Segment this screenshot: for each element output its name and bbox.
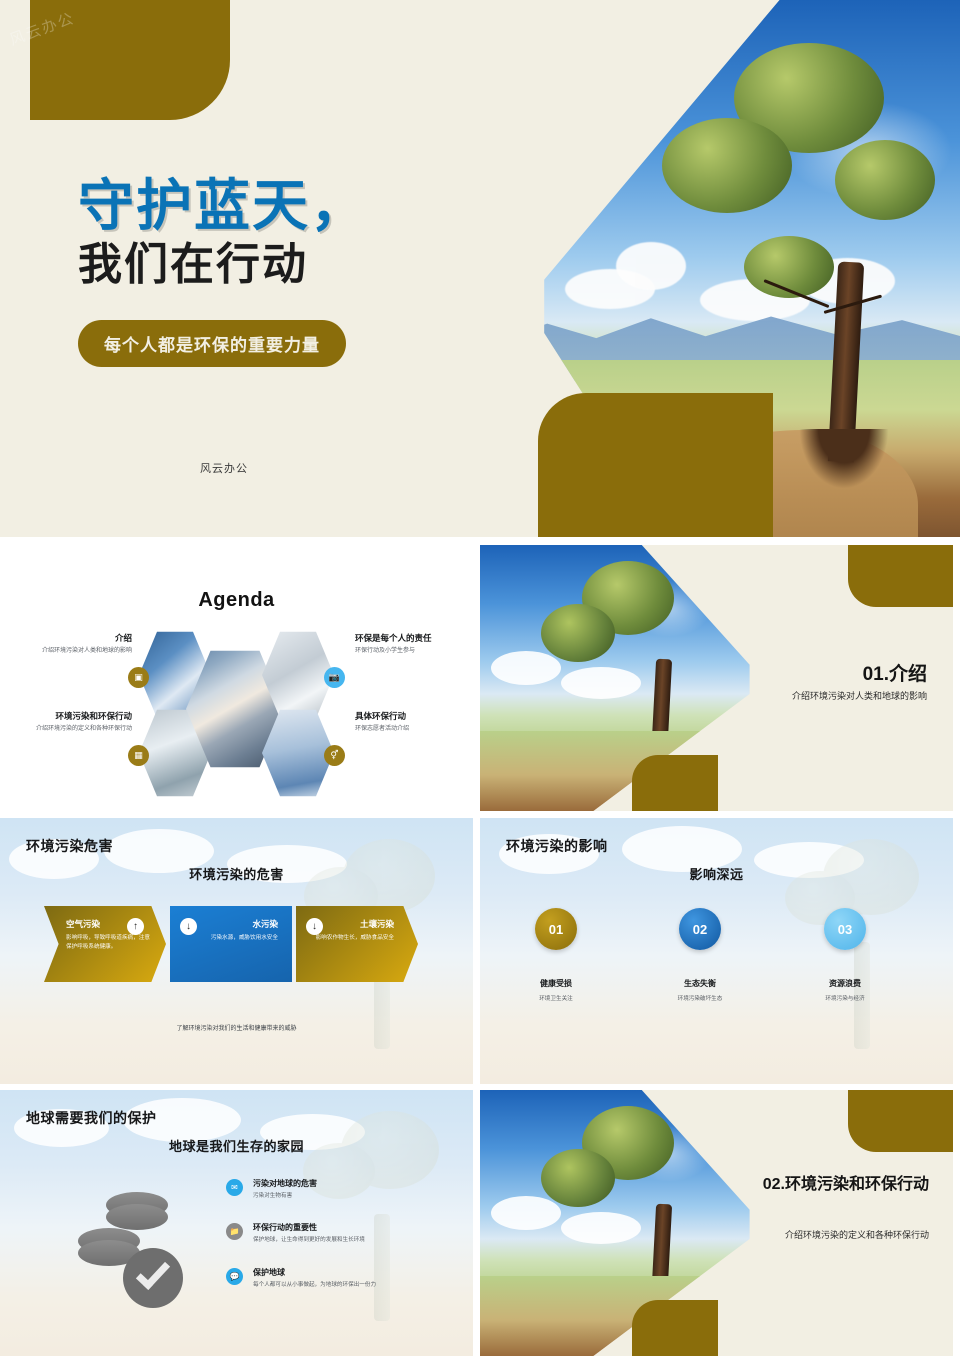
chat-icon: 💬 [226, 1268, 243, 1285]
harm-card-1[interactable]: ↓ 水污染 污染水源，威胁饮用水安全 [170, 906, 292, 982]
slide-footer-note: 了解环境污染对我们的生活和健康带来的威胁 [0, 1023, 473, 1032]
harm-card-0[interactable]: ↑ 空气污染 影响呼吸，导致呼吸道疾病，注意保护呼吸系统健康。 [44, 906, 166, 982]
gold-corner-top-right [848, 1090, 953, 1152]
title-block: 守护蓝天， 我们在行动 每个人都是环保的重要力量 [78, 176, 498, 367]
presentation-icon: ▣ [128, 667, 149, 688]
agenda-item-desc: 介绍环境污染对人类和地球的影响 [14, 647, 132, 656]
tagline-pill: 每个人都是环保的重要力量 [78, 320, 346, 367]
harm-card-2[interactable]: ↓ 土壤污染 影响农作物生长，威胁食品安全 [296, 906, 418, 982]
harm-card-title: 土壤污染 [310, 918, 404, 930]
agenda-item-label: 介绍 [14, 633, 132, 644]
author-label: 风云办公 [200, 460, 248, 476]
slide-header: 环境污染的影响 [506, 836, 608, 856]
agenda-item-desc: 环保志愿者活动介绍 [355, 725, 473, 734]
harm-card-desc: 污染水源，威胁饮用水安全 [184, 934, 278, 943]
gold-corner-top-right [848, 545, 953, 607]
impact-number-badge: 01 [535, 908, 577, 950]
gold-fold-bottom [538, 393, 773, 537]
harm-card-title: 水污染 [184, 918, 278, 930]
impact-item-desc: 环境卫生关注 [496, 994, 616, 1002]
earth-item-desc: 每个人都可以从小事做起，为地球的环保出一份力 [253, 1281, 376, 1289]
agenda-item-desc: 环保行动及小学生参与 [355, 647, 473, 656]
slide-heading: 环境污染的危害 [0, 864, 473, 883]
impact-item-title: 健康受损 [496, 978, 616, 989]
slide-pollution-impact[interactable]: 环境污染的影响 影响深远 01 健康受损 环境卫生关注 02 生态失衡 环境污染… [480, 818, 953, 1084]
section-subtitle: 介绍环境污染的定义和各种环保行动 [785, 1228, 929, 1241]
slide-earth-protection[interactable]: 地球需要我们的保护 地球是我们生存的家园 ✉ 污染对地球的危害 污染对生物有害 … [0, 1090, 473, 1356]
earth-item-0[interactable]: ✉ 污染对地球的危害 污染对生物有害 [226, 1178, 441, 1200]
slide-section-02[interactable]: 02.环境污染和环保行动 介绍环境污染的定义和各种环保行动 [480, 1090, 953, 1356]
impact-item-desc: 环境污染破坏生态 [640, 994, 760, 1002]
title-line-2: 我们在行动 [78, 237, 498, 292]
earth-item-title: 污染对地球的危害 [253, 1178, 317, 1189]
arrow-down-icon: ↓ [306, 918, 323, 935]
slide-title[interactable]: 风云办公 守护蓝天， 我们在行动 每个人都是环保的重要力量 风云办公 [0, 0, 960, 537]
slide-heading: 影响深远 [480, 864, 953, 883]
coin-stack-top [106, 1204, 168, 1230]
cloud-shape [561, 667, 641, 699]
envelope-icon: ✉ [226, 1179, 243, 1196]
agenda-item-1[interactable]: 环保是每个人的责任 环保行动及小学生参与 [355, 633, 473, 656]
tree-canopy [541, 1149, 615, 1207]
earth-item-title: 保护地球 [253, 1267, 376, 1278]
earth-item-2[interactable]: 💬 保护地球 每个人都可以从小事做起，为地球的环保出一份力 [226, 1267, 441, 1289]
cloud-shape [561, 1212, 641, 1244]
tree-canopy [662, 118, 792, 213]
slide-pollution-harm[interactable]: 环境污染危害 环境污染的危害 ↑ 空气污染 影响呼吸，导致呼吸道疾病，注意保护呼… [0, 818, 473, 1084]
impact-item-title: 生态失衡 [640, 978, 760, 989]
impact-number-badge: 03 [824, 908, 866, 950]
slide-heading: 地球是我们生存的家园 [0, 1136, 473, 1155]
impact-item-title: 资源浪费 [785, 978, 905, 989]
impact-item-1[interactable]: 02 生态失衡 环境污染破坏生态 [640, 908, 760, 1002]
impact-item-2[interactable]: 03 资源浪费 环境污染与经济 [785, 908, 905, 1002]
tree-canopy [835, 140, 935, 220]
section-subtitle: 介绍环境污染对人类和地球的影响 [792, 689, 927, 702]
agenda-item-label: 环境污染和环保行动 [14, 711, 132, 722]
cloud-shape [491, 1196, 561, 1230]
image-icon: 📷 [324, 667, 345, 688]
impact-number-badge: 02 [679, 908, 721, 950]
agenda-item-label: 环保是每个人的责任 [355, 633, 473, 644]
slide-header: 环境污染危害 [26, 836, 113, 856]
checkmark-glyph [136, 1255, 170, 1290]
slide-agenda[interactable]: Agenda ▣ 📷 ▦ ⚥ 介绍 介绍环境污染对人类和地球的影响 环保是每个人… [0, 545, 473, 811]
title-line-1: 守护蓝天， [78, 176, 498, 235]
tree-canopy [541, 604, 615, 662]
earth-item-title: 环保行动的重要性 [253, 1222, 365, 1233]
section-title: 02.环境污染和环保行动 [719, 1174, 929, 1196]
impact-item-0[interactable]: 01 健康受损 环境卫生关注 [496, 908, 616, 1002]
chevron-row: ↑ 空气污染 影响呼吸，导致呼吸道疾病，注意保护呼吸系统健康。 ↓ 水污染 污染… [44, 906, 418, 982]
slide-section-01[interactable]: 01.介绍 介绍环境污染对人类和地球的影响 [480, 545, 953, 811]
earth-item-desc: 污染对生物有害 [253, 1192, 317, 1200]
impact-item-desc: 环境污染与经济 [785, 994, 905, 1002]
earth-bullet-list: ✉ 污染对地球的危害 污染对生物有害 📁 环保行动的重要性 保护地球，让生命得到… [226, 1178, 441, 1311]
cloud-shape [491, 651, 561, 685]
agenda-item-2[interactable]: 环境污染和环保行动 介绍环境污染的定义和各种环保行动 [14, 711, 132, 734]
cloud-shape [616, 242, 686, 290]
tree-roots [799, 429, 889, 489]
arrow-up-icon: ↑ [127, 918, 144, 935]
harm-card-desc: 影响呼吸，导致呼吸道疾病，注意保护呼吸系统健康。 [66, 934, 152, 951]
folder-icon: 📁 [226, 1223, 243, 1240]
agenda-item-desc: 介绍环境污染的定义和各种环保行动 [14, 725, 132, 734]
flask-icon: ⚥ [324, 745, 345, 766]
coins-illustration [76, 1186, 196, 1316]
earth-item-desc: 保护地球，让生命得到更好的发展和生长环境 [253, 1236, 365, 1244]
checkmark-icon [123, 1248, 183, 1308]
section-title: 01.介绍 [863, 659, 927, 686]
agenda-item-3[interactable]: 具体环保行动 环保志愿者活动介绍 [355, 711, 473, 734]
arrow-down-icon: ↓ [180, 918, 197, 935]
sitemap-icon: ▦ [128, 745, 149, 766]
agenda-item-label: 具体环保行动 [355, 711, 473, 722]
harm-card-desc: 影响农作物生长，威胁食品安全 [310, 934, 404, 943]
hero-illustration [540, 0, 960, 537]
agenda-item-0[interactable]: 介绍 介绍环境污染对人类和地球的影响 [14, 633, 132, 656]
slide-header: 地球需要我们的保护 [26, 1108, 157, 1128]
gold-corner-bottom [632, 755, 718, 811]
agenda-title: Agenda [0, 589, 473, 612]
gold-corner-bottom [632, 1300, 718, 1356]
earth-item-1[interactable]: 📁 环保行动的重要性 保护地球，让生命得到更好的发展和生长环境 [226, 1222, 441, 1244]
slide-deck-overview: 风云办公 守护蓝天， 我们在行动 每个人都是环保的重要力量 风云办公 Agend… [0, 0, 960, 1352]
